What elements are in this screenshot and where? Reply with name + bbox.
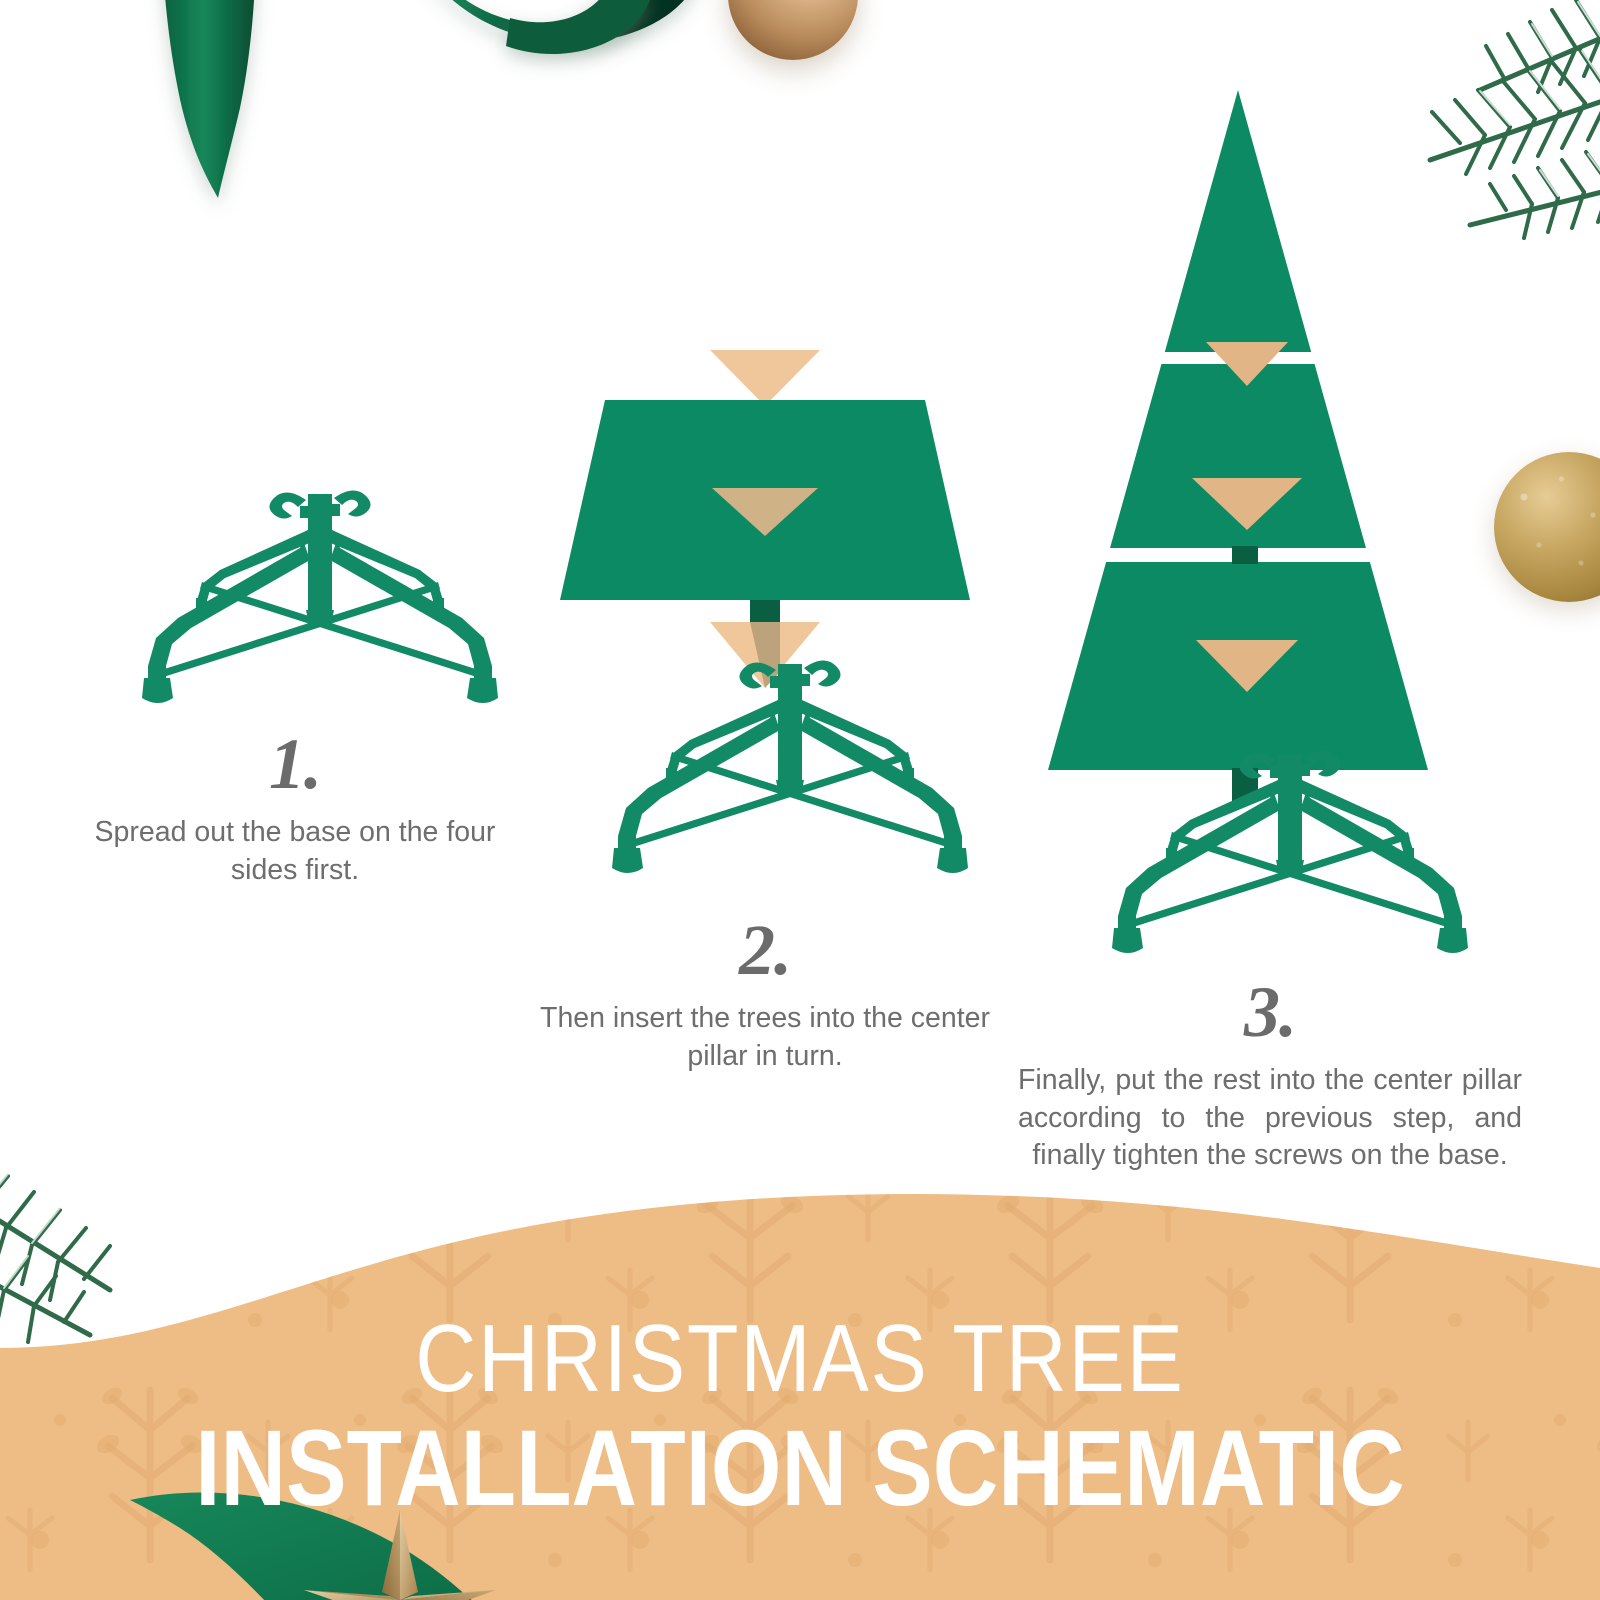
insert-arrow-top	[710, 350, 820, 406]
footer-title-line-1: CHRISTMAS TREE	[96, 1310, 1504, 1408]
assembled-tree-figure	[1010, 80, 1530, 970]
step-2-text: Then insert the trees into the center pi…	[530, 1000, 1000, 1075]
step-3-number: 3.	[1010, 976, 1530, 1048]
step-1-text: Spread out the base on the four sides fi…	[60, 814, 530, 889]
infographic-canvas: 1. Spread out the base on the four sides…	[0, 0, 1600, 1600]
step-1-number: 1.	[60, 728, 530, 800]
center-pillar-joint	[1232, 546, 1258, 564]
footer-title-line-2: INSTALLATION SCHEMATIC	[128, 1412, 1472, 1524]
tree-stand-base-figure	[60, 470, 530, 710]
step-3-text: Finally, put the rest into the center pi…	[1010, 1062, 1530, 1175]
footer-title: CHRISTMAS TREE INSTALLATION SCHEMATIC	[0, 1310, 1600, 1524]
gold-ball-ornament-top-icon	[728, 0, 858, 60]
tree-section-and-stand-figure	[530, 340, 1000, 900]
step-3: 3. Finally, put the rest into the center…	[1010, 80, 1530, 1175]
green-satin-ribbon-top-icon	[90, 0, 810, 240]
step-2-number: 2.	[530, 914, 1000, 986]
step-1: 1. Spread out the base on the four sides…	[60, 470, 530, 889]
step-2: 2. Then insert the trees into the center…	[530, 340, 1000, 1075]
